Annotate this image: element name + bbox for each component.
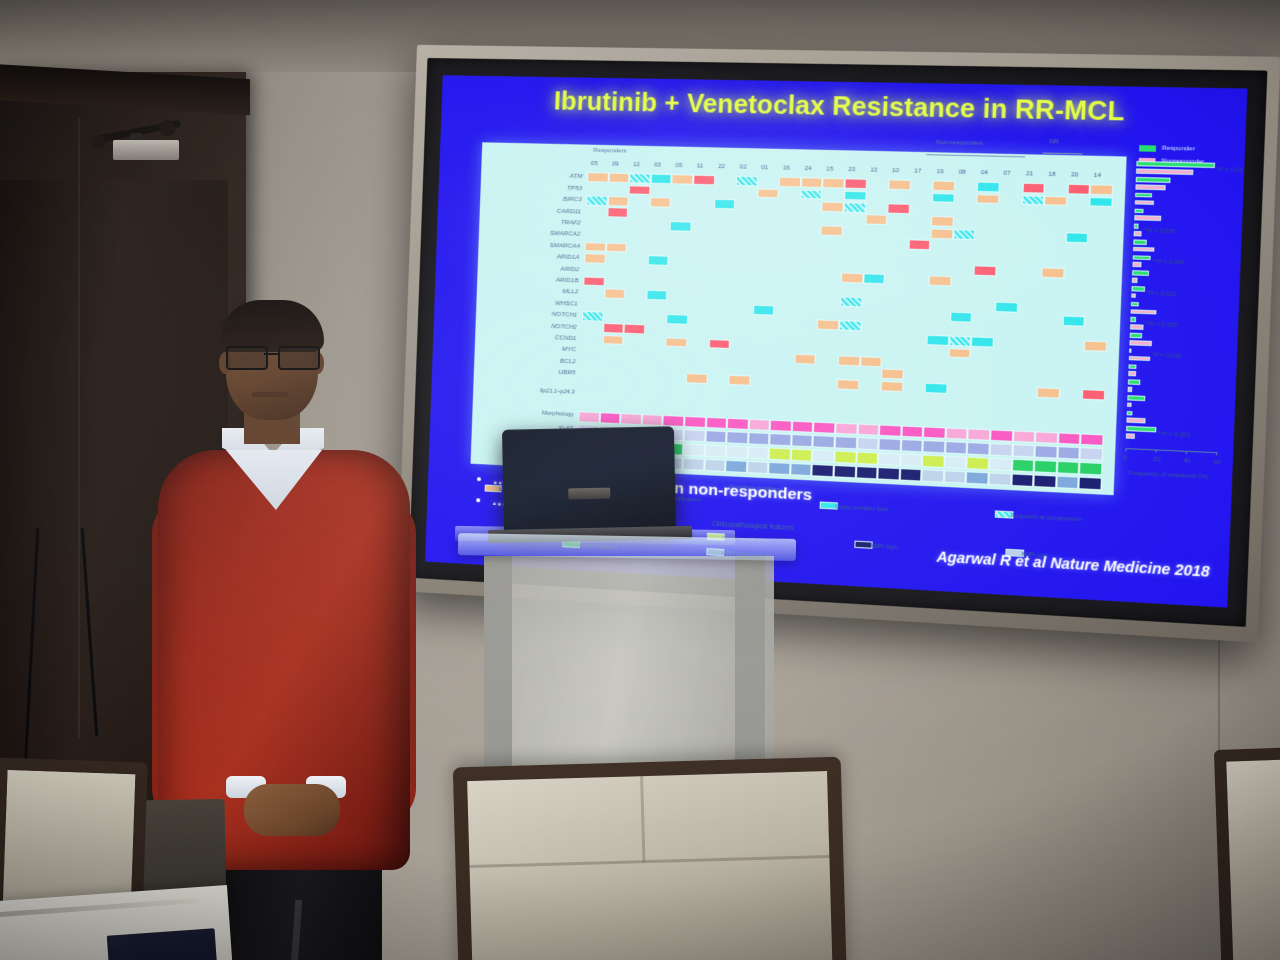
- room-lighting: [0, 0, 1280, 960]
- conference-room-photo: Ibrutinib + Venetoclax Resistance in RR-…: [0, 0, 1280, 960]
